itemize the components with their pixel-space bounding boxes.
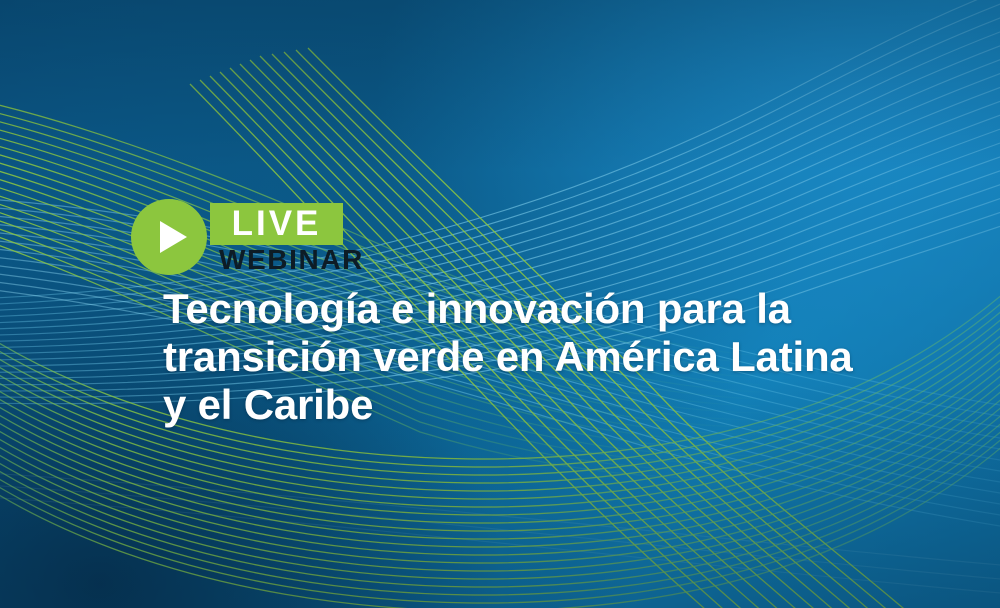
title-line-3: y el Caribe: [163, 381, 963, 429]
page-title: Tecnología e innovación para la transici…: [163, 285, 963, 429]
play-triangle-shape: [160, 221, 187, 253]
play-icon[interactable]: [131, 199, 207, 275]
webinar-banner: LIVE WEBINAR Tecnología e innovación par…: [0, 0, 1000, 608]
title-line-1: Tecnología e innovación para la: [163, 285, 963, 333]
title-line-2: transición verde en América Latina: [163, 333, 963, 381]
webinar-label: WEBINAR: [219, 244, 364, 276]
live-webinar-badge: LIVE WEBINAR: [131, 199, 471, 283]
live-label: LIVE: [210, 203, 343, 245]
live-chip: LIVE: [210, 203, 343, 245]
